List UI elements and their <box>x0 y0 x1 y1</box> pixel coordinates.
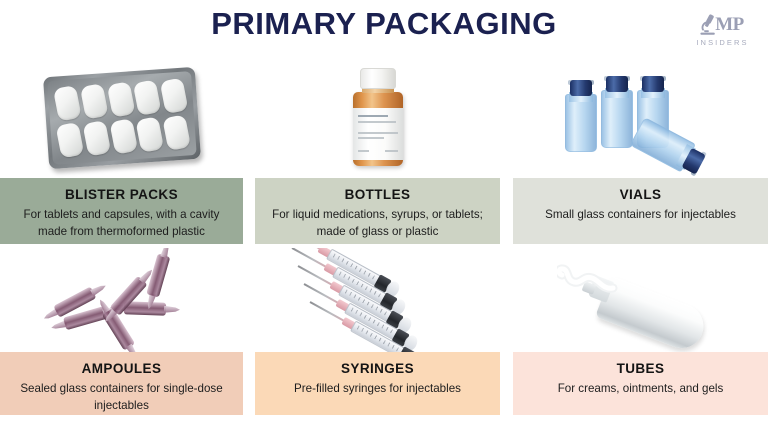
glass-ampoules-graphic <box>32 250 212 350</box>
prefilled-syringes-image <box>255 248 500 352</box>
vial-lying-down <box>629 117 708 178</box>
logo-mark: MP <box>698 12 744 37</box>
capsule <box>133 79 162 116</box>
packaging-row-top: BLISTER PACKS For tablets and capsules, … <box>0 58 768 246</box>
glass-vials-image <box>513 58 768 178</box>
card-description: For liquid medications, syrups, or table… <box>265 207 490 240</box>
card-tubes: TUBES For creams, ointments, and gels <box>513 248 768 428</box>
cream-tube-image <box>513 248 768 352</box>
capsule <box>79 83 108 120</box>
card-description: Small glass containers for injectables <box>523 207 758 223</box>
card-ampoules: AMPOULES Sealed glass containers for sin… <box>0 248 243 428</box>
packaging-row-bottom: AMPOULES Sealed glass containers for sin… <box>0 248 768 428</box>
card-description: For tablets and capsules, with a cavity … <box>10 207 233 240</box>
card-caption: BLISTER PACKS For tablets and capsules, … <box>0 178 243 244</box>
capsule <box>106 81 135 118</box>
card-vials: VIALS Small glass containers for injecta… <box>513 58 768 246</box>
logo-letters: MP <box>715 15 744 34</box>
vial <box>565 80 597 152</box>
blister-pack-graphic <box>42 67 200 169</box>
card-title: AMPOULES <box>10 361 233 377</box>
pill-bottle-image <box>255 58 500 178</box>
poster-header: PRIMARY PACKAGING MP INSI <box>0 0 768 58</box>
card-title: BLISTER PACKS <box>10 187 233 203</box>
pill-bottle-graphic <box>351 68 405 168</box>
capsule <box>159 77 188 114</box>
cream-squeeze <box>557 254 619 294</box>
prescription-label <box>353 108 403 160</box>
capsule <box>55 122 84 159</box>
cream-tube-graphic <box>561 252 721 348</box>
card-title: VIALS <box>523 187 758 203</box>
card-title: TUBES <box>523 361 758 377</box>
primary-packaging-infographic: PRIMARY PACKAGING MP INSI <box>0 0 768 432</box>
card-caption: AMPOULES Sealed glass containers for sin… <box>0 352 243 415</box>
prefilled-syringes-graphic <box>292 248 464 352</box>
card-caption: TUBES For creams, ointments, and gels <box>513 352 768 415</box>
card-blister-packs: BLISTER PACKS For tablets and capsules, … <box>0 58 243 246</box>
capsule <box>162 114 191 151</box>
page-title: PRIMARY PACKAGING <box>0 6 768 42</box>
card-caption: SYRINGES Pre-filled syringes for injecta… <box>255 352 500 415</box>
blister-pack-image <box>0 58 243 178</box>
brand-logo: MP INSIDERS <box>684 9 758 49</box>
capsule <box>108 118 137 155</box>
card-caption: BOTTLES For liquid medications, syrups, … <box>255 178 500 244</box>
card-description: Sealed glass containers for single-dose … <box>10 381 233 414</box>
card-description: For creams, ointments, and gels <box>523 381 758 397</box>
card-description: Pre-filled syringes for injectables <box>265 381 490 397</box>
capsule <box>82 120 111 157</box>
glass-vials-graphic <box>557 64 725 172</box>
card-syringes: SYRINGES Pre-filled syringes for injecta… <box>255 248 500 428</box>
capsule <box>52 85 81 122</box>
card-title: SYRINGES <box>265 361 490 377</box>
card-bottles: BOTTLES For liquid medications, syrups, … <box>255 58 500 246</box>
glass-ampoules-image <box>0 248 243 352</box>
capsule <box>135 116 164 153</box>
card-caption: VIALS Small glass containers for injecta… <box>513 178 768 244</box>
logo-tagline: INSIDERS <box>693 38 748 47</box>
vial <box>601 76 633 148</box>
card-title: BOTTLES <box>265 187 490 203</box>
